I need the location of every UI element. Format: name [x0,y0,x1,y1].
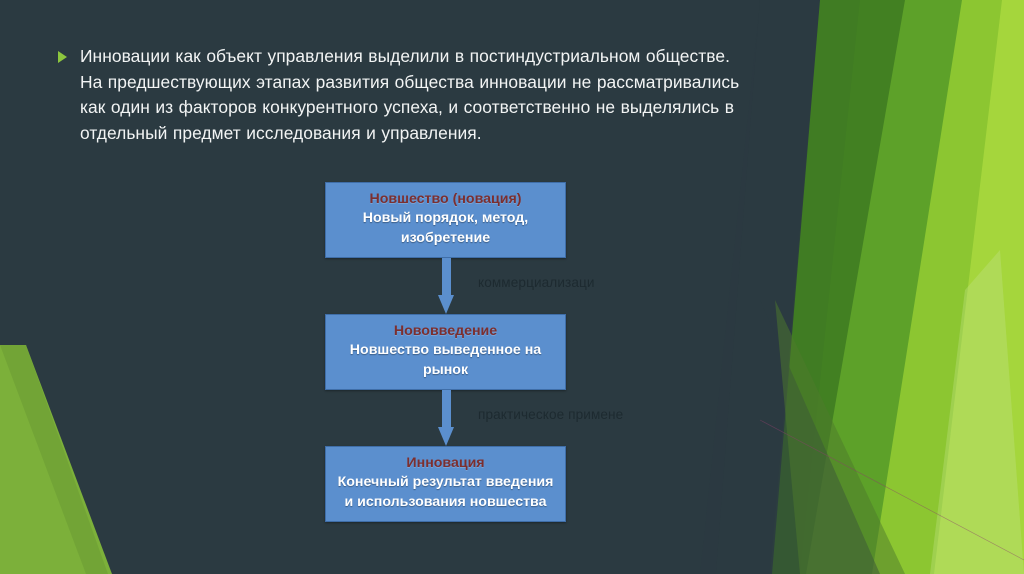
decor-green-overlap-b [806,0,1024,574]
process-flow-diagram: Новшество (новация) Новый порядок, метод… [325,182,566,522]
flow-connector-2: практическое примене [325,390,566,446]
decor-left-wedge [0,345,112,574]
connector-label: коммерциализаци [478,275,595,291]
flow-box-title: Инновация [332,454,559,473]
flow-box-body: Новшество выведенное на рынок [332,341,559,380]
arrow-down-icon [438,390,455,446]
decor-right-light-green [930,0,1024,574]
bullet-paragraph: Инновации как объект управления выделили… [58,44,748,146]
triangle-right-icon [58,51,67,63]
slide: Инновации как объект управления выделили… [0,0,1024,574]
flow-box-title: Нововведение [332,322,559,341]
decor-right-dark-green [735,0,1024,574]
decor-green-overlap-c [872,0,1024,574]
flow-box-body: Конечный результат введения и использова… [332,473,559,512]
decor-olive-diagonal [775,300,905,574]
decor-right-pale-green [960,95,1024,574]
flow-box-innovation-introduced: Нововведение Новшество выведенное на рын… [325,314,566,390]
connector-label: практическое примене [478,407,623,423]
bullet-text: Инновации как объект управления выделили… [80,44,748,146]
decor-green-overlap-a [772,0,1024,574]
decor-hairline [760,420,1024,560]
arrow-down-icon [438,258,455,314]
flow-box-innovation: Инновация Конечный результат введения и … [325,446,566,522]
arrow-shaft [442,258,451,296]
arrow-head [438,295,454,314]
flow-connector-1: коммерциализаци [325,258,566,314]
decor-right-bright-green [858,0,1024,574]
decor-left-wedge-shade [0,345,108,574]
decor-green-overlap-d [934,0,1024,574]
flow-box-body: Новый порядок, метод, изобретение [332,209,559,248]
arrow-head [438,427,454,446]
decor-pale-highlight [930,250,1024,574]
flow-box-novelty: Новшество (новация) Новый порядок, метод… [325,182,566,258]
decor-right-mid-green [772,0,1024,574]
arrow-shaft [442,390,451,428]
decor-dark-diagonal [760,300,880,574]
flow-box-title: Новшество (новация) [332,190,559,209]
